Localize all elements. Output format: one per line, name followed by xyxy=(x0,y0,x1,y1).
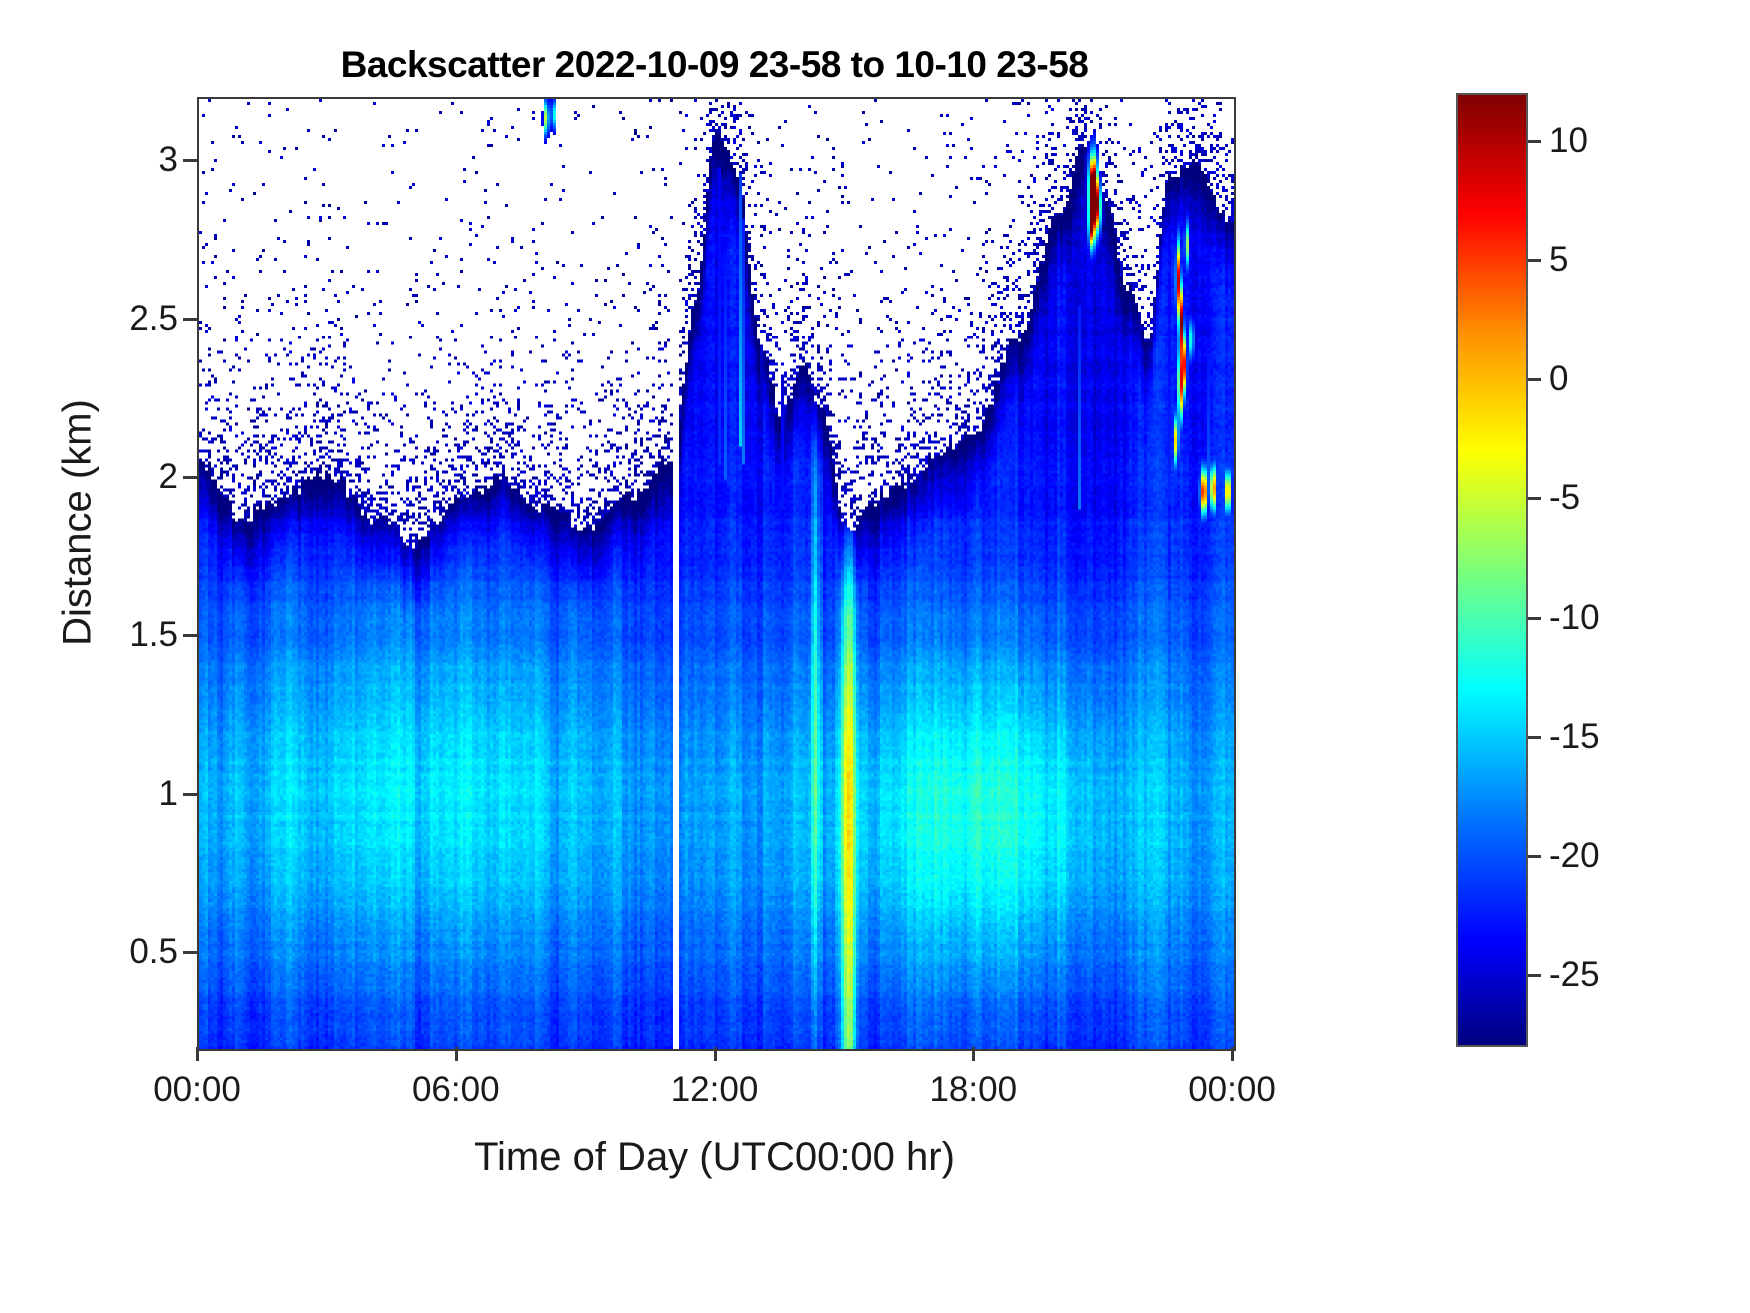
x-tick-label: 18:00 xyxy=(929,1070,1017,1110)
heatmap-image xyxy=(199,99,1234,1049)
colorbar-tick-label: -10 xyxy=(1549,598,1600,638)
y-tick-label: 3 xyxy=(159,140,178,180)
colorbar-tick-label: -20 xyxy=(1549,836,1600,876)
y-tick-mark xyxy=(183,318,197,321)
colorbar-tick-mark xyxy=(1528,140,1541,143)
colorbar-tick-label: 5 xyxy=(1549,240,1568,280)
y-tick-mark xyxy=(183,793,197,796)
colorbar-gradient xyxy=(1458,95,1526,1045)
x-tick-label: 12:00 xyxy=(671,1070,759,1110)
x-tick-mark xyxy=(196,1047,199,1061)
colorbar-tick-label: -5 xyxy=(1549,478,1580,518)
y-tick-label: 0.5 xyxy=(129,932,178,972)
figure-canvas: Backscatter 2022-10-09 23-58 to 10-10 23… xyxy=(0,0,1750,1313)
x-tick-mark xyxy=(714,1047,717,1061)
x-tick-label: 06:00 xyxy=(412,1070,500,1110)
colorbar-tick-label: -25 xyxy=(1549,955,1600,995)
colorbar-tick-label: -15 xyxy=(1549,717,1600,757)
colorbar-tick-mark xyxy=(1528,617,1541,620)
x-axis-label: Time of Day (UTC00:00 hr) xyxy=(197,1135,1232,1180)
y-tick-mark xyxy=(183,476,197,479)
colorbar-tick-mark xyxy=(1528,855,1541,858)
y-tick-mark xyxy=(183,159,197,162)
colorbar xyxy=(1456,93,1528,1047)
colorbar-tick-mark xyxy=(1528,974,1541,977)
colorbar-tick-label: 10 xyxy=(1549,121,1588,161)
colorbar-tick-label: 0 xyxy=(1549,359,1568,399)
x-tick-mark xyxy=(972,1047,975,1061)
x-tick-label: 00:00 xyxy=(153,1070,241,1110)
y-tick-label: 2.5 xyxy=(129,299,178,339)
y-tick-mark xyxy=(183,951,197,954)
colorbar-tick-mark xyxy=(1528,736,1541,739)
page-title: Backscatter 2022-10-09 23-58 to 10-10 23… xyxy=(197,44,1232,86)
y-tick-mark xyxy=(183,634,197,637)
colorbar-tick-mark xyxy=(1528,378,1541,381)
y-tick-label: 1.5 xyxy=(129,615,178,655)
y-tick-label: 2 xyxy=(159,457,178,497)
x-tick-label: 00:00 xyxy=(1188,1070,1276,1110)
y-axis-label: Distance (km) xyxy=(56,263,101,783)
colorbar-tick-mark xyxy=(1528,497,1541,500)
colorbar-tick-mark xyxy=(1528,259,1541,262)
x-tick-mark xyxy=(455,1047,458,1061)
y-tick-label: 1 xyxy=(159,774,178,814)
x-tick-mark xyxy=(1231,1047,1234,1061)
plot-axes-area xyxy=(197,97,1236,1051)
